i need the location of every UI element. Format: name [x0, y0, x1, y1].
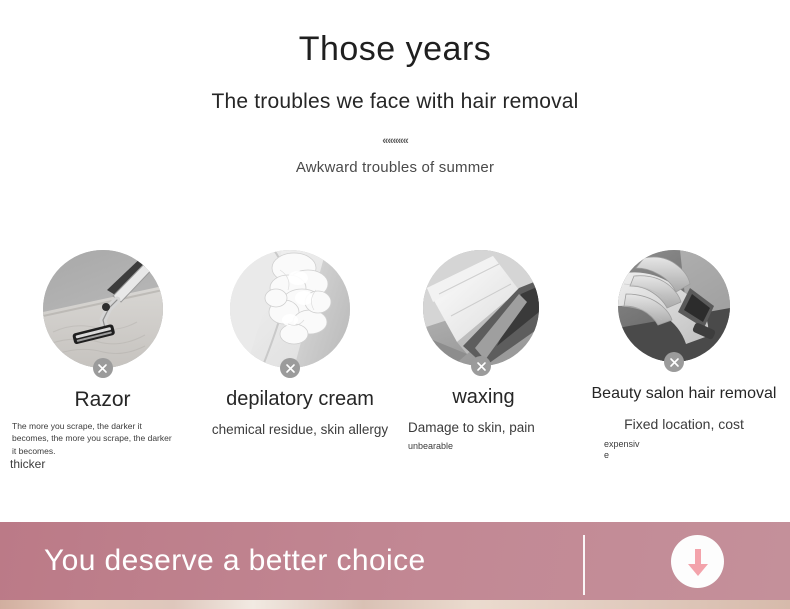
- arrow-down-icon: [685, 547, 711, 577]
- card-title: Beauty salon hair removal: [580, 385, 788, 403]
- problem-card-depilatory-cream[interactable]: depilatory cream chemical residue, skin …: [205, 250, 395, 480]
- depilatory-cream-photo-wrap: [230, 250, 350, 368]
- problem-cards-row: Razor The more you scrape, the darker it…: [0, 250, 790, 480]
- card-description: chemical residue, skin allergy: [210, 420, 390, 440]
- problem-card-razor[interactable]: Razor The more you scrape, the darker it…: [0, 250, 205, 480]
- cta-banner-text: You deserve a better choice: [44, 546, 426, 576]
- beauty-salon-photo-wrap: [618, 250, 730, 362]
- card-description: Fixed location, cost: [589, 415, 779, 435]
- problem-card-beauty-salon[interactable]: Beauty salon hair removal Fixed location…: [580, 250, 788, 480]
- problem-card-waxing[interactable]: waxing Damage to skin, pain unbearable: [395, 250, 580, 480]
- card-description: The more you scrape, the darker it becom…: [12, 420, 172, 457]
- razor-photo: [43, 250, 163, 368]
- card-description: Damage to skin, pain: [408, 418, 580, 438]
- next-section-preview-strip: [0, 600, 790, 609]
- card-description-extra: expensive: [604, 439, 644, 462]
- x-circle-icon: [280, 358, 300, 378]
- card-title: waxing: [387, 386, 580, 409]
- cta-banner[interactable]: You deserve a better choice: [0, 522, 790, 600]
- waxing-photo: [423, 250, 539, 366]
- x-circle-icon: [471, 356, 491, 376]
- card-description-extra: unbearable: [408, 441, 580, 451]
- beauty-salon-photo: [618, 250, 730, 362]
- chevron-left-divider-icon: «««««: [0, 136, 790, 147]
- page-title: Those years: [0, 30, 790, 69]
- banner-divider: [583, 535, 585, 595]
- card-title: Razor: [0, 388, 205, 412]
- waxing-photo-wrap: [423, 250, 539, 366]
- x-circle-icon: [664, 352, 684, 372]
- card-description-extra: thicker: [10, 457, 205, 471]
- card-title: depilatory cream: [205, 388, 395, 411]
- page-subtitle: The troubles we face with hair removal: [0, 89, 790, 114]
- scroll-down-button[interactable]: [671, 535, 724, 588]
- page-tagline: Awkward troubles of summer: [0, 159, 790, 176]
- x-circle-icon: [93, 358, 113, 378]
- razor-photo-wrap: [43, 250, 163, 368]
- page-header: Those years The troubles we face with ha…: [0, 0, 790, 176]
- depilatory-cream-photo: [230, 250, 350, 368]
